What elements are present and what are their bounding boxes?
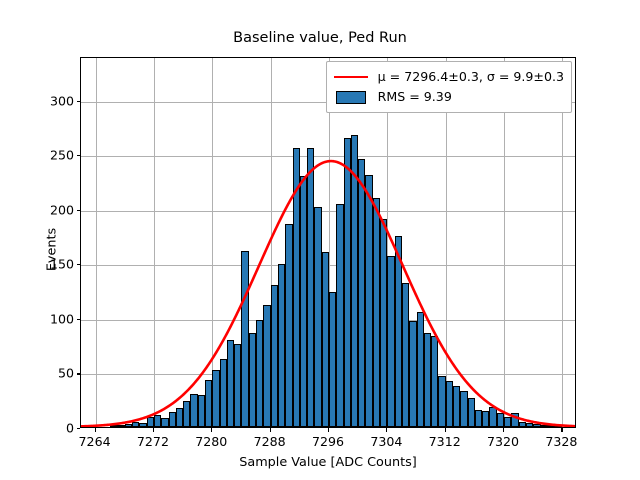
x-tick-label: 7328 xyxy=(545,434,577,449)
chart-title: Baseline value, Ped Run xyxy=(0,30,640,46)
x-tick-mark xyxy=(328,428,329,432)
y-tick-label: 150 xyxy=(32,257,74,272)
x-tick-mark xyxy=(445,428,446,432)
x-axis-label: Sample Value [ADC Counts] xyxy=(80,455,576,470)
legend-item-fit: μ = 7296.4±0.3, σ = 9.9±0.3 xyxy=(333,67,564,87)
x-tick-label: 7272 xyxy=(137,434,169,449)
legend-line-swatch xyxy=(333,76,369,79)
y-tick-mark xyxy=(77,428,81,429)
x-tick-label: 7320 xyxy=(487,434,519,449)
plot-area: μ = 7296.4±0.3, σ = 9.9±0.3 RMS = 9.39 xyxy=(80,57,576,428)
legend-item-rms: RMS = 9.39 xyxy=(333,87,564,107)
x-tick-mark xyxy=(503,428,504,432)
y-tick-label: 50 xyxy=(32,366,74,381)
y-tick-label: 100 xyxy=(32,311,74,326)
y-tick-label: 250 xyxy=(32,148,74,163)
x-tick-label: 7304 xyxy=(370,434,402,449)
x-tick-label: 7264 xyxy=(79,434,111,449)
x-tick-mark xyxy=(95,428,96,432)
legend: μ = 7296.4±0.3, σ = 9.9±0.3 RMS = 9.39 xyxy=(326,61,572,113)
legend-patch-swatch xyxy=(333,91,369,104)
chart-figure: Baseline value, Ped Run Events Sample Va… xyxy=(0,0,640,480)
y-tick-label: 200 xyxy=(32,202,74,217)
legend-label-rms: RMS = 9.39 xyxy=(378,91,452,104)
x-tick-label: 7280 xyxy=(195,434,227,449)
x-tick-label: 7288 xyxy=(254,434,286,449)
x-tick-label: 7312 xyxy=(429,434,461,449)
y-tick-label: 0 xyxy=(32,421,74,436)
gaussian-fit-curve xyxy=(81,58,575,427)
x-tick-mark xyxy=(270,428,271,432)
x-tick-mark xyxy=(386,428,387,432)
x-tick-mark xyxy=(211,428,212,432)
x-tick-label: 7296 xyxy=(312,434,344,449)
x-tick-mark xyxy=(153,428,154,432)
x-tick-mark xyxy=(561,428,562,432)
y-tick-label: 300 xyxy=(32,93,74,108)
legend-label-fit: μ = 7296.4±0.3, σ = 9.9±0.3 xyxy=(378,71,564,84)
